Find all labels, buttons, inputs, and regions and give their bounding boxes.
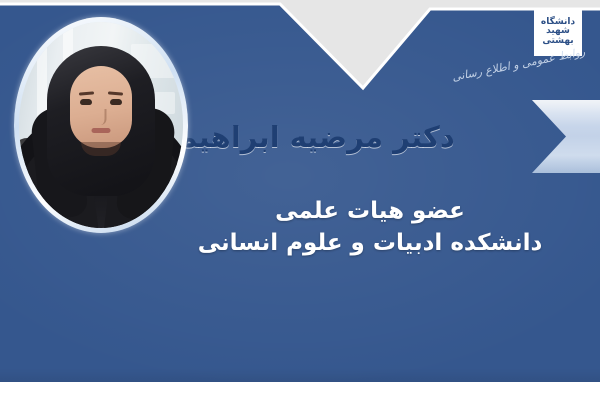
university-logo-mark-text: دانشگاه شهید بهشتی xyxy=(538,12,578,52)
faculty-name: دکتر مرضیه ابراهیمی xyxy=(150,100,550,173)
faculty-announcement-card: دکتر مرضیه ابراهیمی xyxy=(0,0,600,400)
footer-white-strip xyxy=(0,382,600,400)
faculty-role-block: عضو هیات علمی دانشکده ادبیات و علوم انسا… xyxy=(160,196,580,259)
photo-mouth xyxy=(92,128,111,133)
photo-eyebrow-left xyxy=(79,91,94,95)
public-relations-script: روابط عمومی و اطلاع رسانی xyxy=(489,45,590,99)
photo-nose xyxy=(96,109,107,125)
photo-face xyxy=(70,66,132,148)
avatar-photo xyxy=(19,22,183,228)
faculty-department-line: دانشکده ادبیات و علوم انسانی xyxy=(160,228,580,260)
photo-eye-left xyxy=(80,99,92,105)
panel-bottom-shade xyxy=(0,368,600,382)
faculty-role-line-1: عضو هیات علمی xyxy=(160,196,580,228)
photo-eye-right xyxy=(110,99,122,105)
logo-line-3: بهشتی xyxy=(542,37,573,46)
university-logo: دانشگاه شهید بهشتی روابط عمومی و اطلاع ر… xyxy=(490,6,592,94)
photo-eyebrow-right xyxy=(108,91,123,95)
